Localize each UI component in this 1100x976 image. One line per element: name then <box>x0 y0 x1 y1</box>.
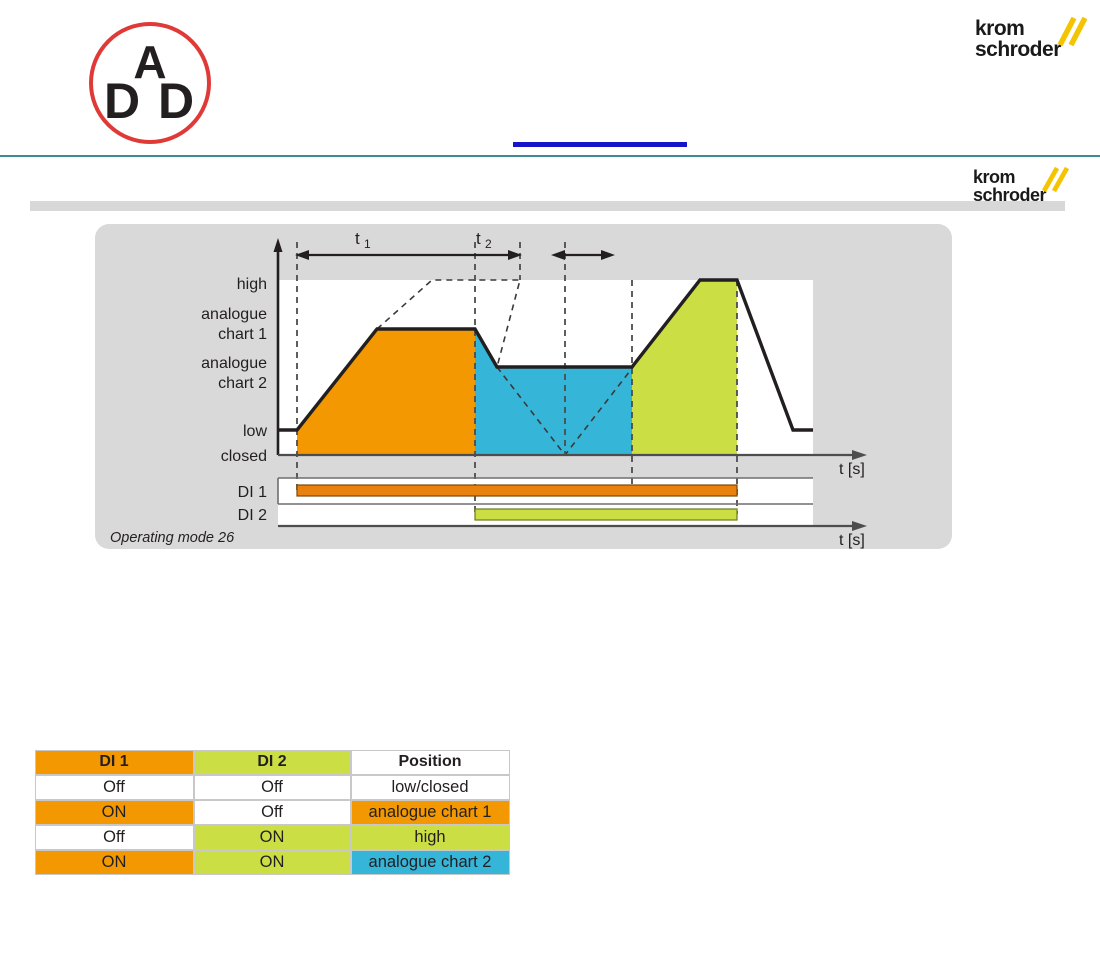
cell-position: low/closed <box>351 775 510 800</box>
cell-di2: Off <box>194 800 351 825</box>
di2-on-bar <box>475 509 737 520</box>
table-row: Off Off low/closed <box>35 775 510 800</box>
cell-di1: ON <box>35 800 194 825</box>
di-position-table: DI 1 DI 2 Position Off Off low/closed ON… <box>34 749 510 875</box>
section-band <box>30 201 1065 211</box>
table-header-di1: DI 1 <box>35 750 194 775</box>
y-label-closed: closed <box>221 448 267 465</box>
table-header-position: Position <box>351 750 510 775</box>
cell-di1: Off <box>35 775 194 800</box>
y-label-di1: DI 1 <box>238 484 267 501</box>
operating-mode-diagram: t 1 t 2 high analogue chart 1 analogue c… <box>95 224 952 549</box>
table-header-row: DI 1 DI 2 Position <box>35 750 510 775</box>
brand-line-krom: krom <box>975 18 1061 39</box>
diagram-svg: t 1 t 2 high analogue chart 1 analogue c… <box>95 224 952 549</box>
table-body: Off Off low/closed ON Off analogue chart… <box>35 775 510 875</box>
cell-position: analogue chart 2 <box>351 850 510 875</box>
t1-label: t 1 <box>355 229 371 251</box>
cell-di1: ON <box>35 850 194 875</box>
table-row: ON ON analogue chart 2 <box>35 850 510 875</box>
cell-di2: ON <box>194 850 351 875</box>
table-row: Off ON high <box>35 825 510 850</box>
y-label-di2: DI 2 <box>238 507 267 524</box>
x-label-bottom: t [s] <box>839 532 865 549</box>
header-link-highlight[interactable] <box>513 142 687 147</box>
t2-label: t 2 <box>476 229 492 251</box>
stamp-letters: A D D <box>89 22 211 144</box>
t1-label-text: t <box>355 229 360 248</box>
cell-position: analogue chart 1 <box>351 800 510 825</box>
y-label-low: low <box>243 423 267 440</box>
y-label-high: high <box>237 276 267 293</box>
y-label-analogue1-b: chart 1 <box>218 326 267 343</box>
brand-line-krom: krom <box>973 168 1046 186</box>
kromschroder-logo-top: krom schroder <box>975 18 1061 61</box>
x-label-top: t [s] <box>839 461 865 478</box>
t2-label-sub: 2 <box>485 237 492 251</box>
y-label-analogue2-b: chart 2 <box>218 375 267 392</box>
x-axis-unit-labels: t [s] t [s] <box>839 461 865 549</box>
di1-on-bar <box>297 485 737 496</box>
y-label-analogue2-a: analogue <box>201 355 267 372</box>
cell-di2: ON <box>194 825 351 850</box>
add-approval-stamp: A D D <box>89 22 211 144</box>
table-header-di2: DI 2 <box>194 750 351 775</box>
figure-caption: Operating mode 26 <box>110 530 234 546</box>
t1-label-sub: 1 <box>364 237 371 251</box>
header-divider <box>0 155 1100 157</box>
t2-label-text: t <box>476 229 481 248</box>
cell-position: high <box>351 825 510 850</box>
cell-di2: Off <box>194 775 351 800</box>
stamp-letters-dd: D D <box>104 81 196 122</box>
kromschroder-logo-mid: krom schroder <box>973 168 1046 205</box>
cell-di1: Off <box>35 825 194 850</box>
y-axis-labels: high analogue chart 1 analogue chart 2 l… <box>201 276 267 524</box>
table-row: ON Off analogue chart 1 <box>35 800 510 825</box>
y-label-analogue1-a: analogue <box>201 306 267 323</box>
brand-line-schroder: schroder <box>975 39 1061 60</box>
